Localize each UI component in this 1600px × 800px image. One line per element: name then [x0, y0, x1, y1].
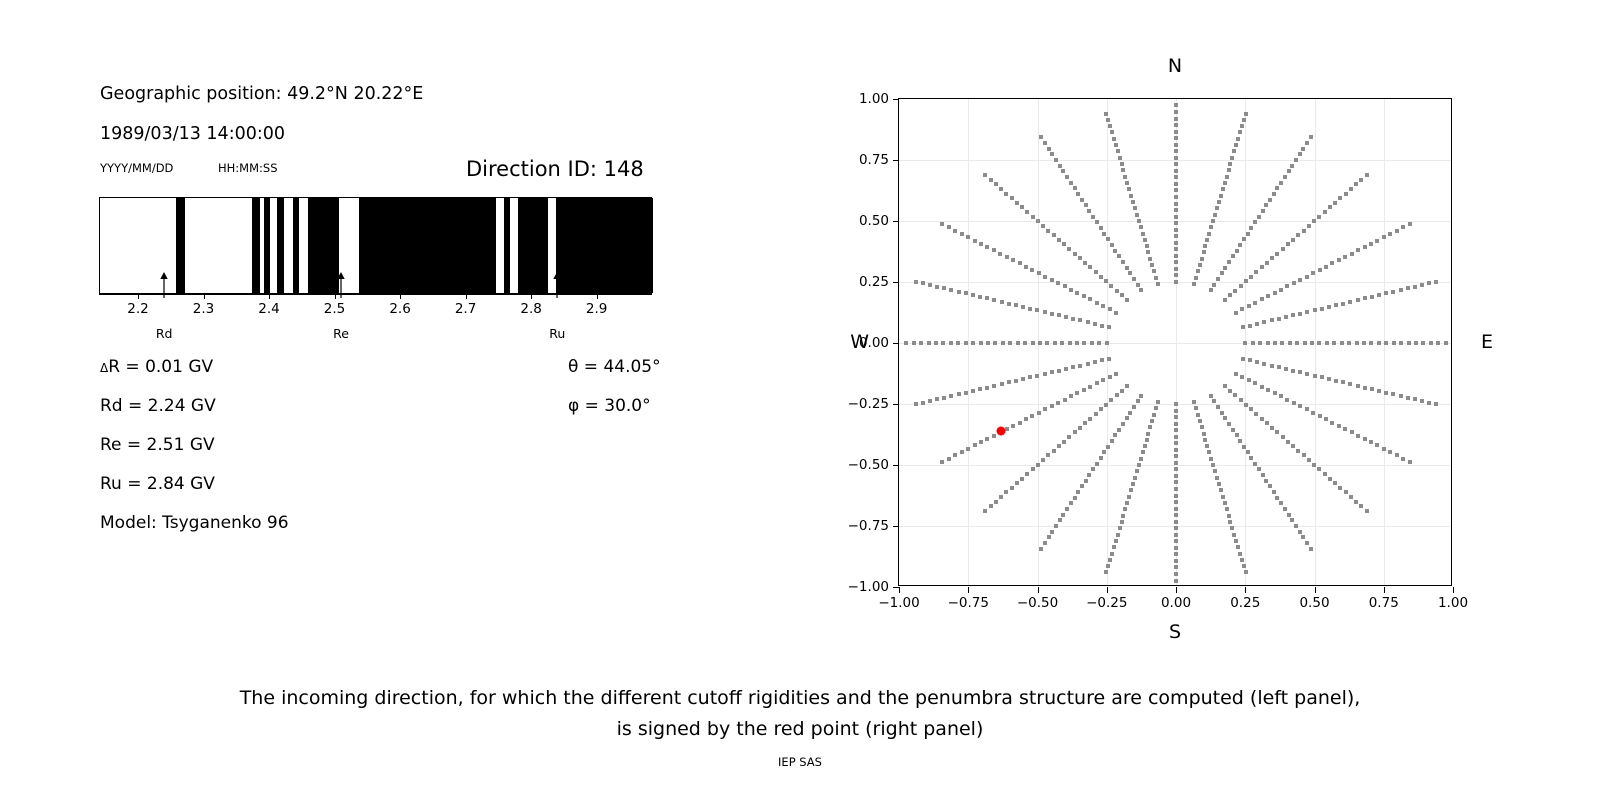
direction-point — [1270, 318, 1274, 322]
direction-point — [1174, 539, 1178, 543]
direction-point — [973, 239, 977, 243]
direction-point — [1213, 469, 1217, 473]
direction-point — [1037, 271, 1041, 275]
direction-point — [1341, 380, 1345, 384]
direction-point — [1249, 456, 1253, 460]
direction-point — [966, 235, 970, 239]
direction-point — [1108, 307, 1112, 311]
scatter-plot-frame: N S W E −1.00−0.75−0.50−0.250.000.250.50… — [898, 98, 1452, 586]
direction-point — [1154, 276, 1158, 280]
direction-point — [1174, 188, 1178, 192]
gridline-horizontal — [899, 160, 1451, 161]
direction-point — [1050, 370, 1054, 374]
penumbra-forbidden-band — [176, 198, 186, 293]
direction-point — [1064, 367, 1068, 371]
direction-point — [1127, 187, 1131, 191]
direction-point — [1227, 422, 1231, 426]
direction-point — [983, 509, 987, 513]
direction-point — [1135, 469, 1139, 473]
direction-point — [1279, 181, 1283, 185]
direction-point — [1091, 467, 1095, 471]
direction-point — [1233, 393, 1237, 397]
direction-point — [1174, 110, 1178, 114]
direction-point — [1045, 341, 1049, 345]
direction-point — [942, 396, 946, 400]
direction-point — [1061, 169, 1065, 173]
direction-point — [1104, 403, 1108, 407]
direction-point — [1227, 514, 1231, 518]
direction-map-panel: N S W E −1.00−0.75−0.50−0.250.000.250.50… — [760, 0, 1600, 660]
direction-point — [1254, 412, 1258, 416]
direction-point — [1110, 243, 1114, 247]
direction-point — [1065, 507, 1069, 511]
direction-point — [1078, 426, 1082, 430]
direction-point — [966, 447, 970, 451]
x-axis-tick — [1453, 587, 1454, 593]
direction-point — [1050, 404, 1054, 408]
direction-point — [1174, 136, 1178, 140]
direction-point — [1298, 152, 1302, 156]
direction-point — [1109, 398, 1113, 402]
caption-line-1: The incoming direction, for which the di… — [0, 683, 1600, 714]
direction-point — [949, 341, 953, 345]
param-delta-R: ΔR = 0.01 GV — [100, 357, 213, 377]
direction-point — [1174, 500, 1178, 504]
direction-point — [1203, 438, 1207, 442]
direction-point — [1093, 322, 1097, 326]
gridline-vertical — [1315, 99, 1316, 585]
direction-point — [1369, 242, 1373, 246]
direction-point — [1099, 407, 1103, 411]
direction-point — [1020, 205, 1024, 209]
direction-point — [1031, 215, 1035, 219]
direction-point — [1270, 256, 1274, 260]
direction-point — [1082, 388, 1086, 392]
direction-point — [1369, 440, 1373, 444]
direction-point — [1062, 440, 1066, 444]
x-axis-tick — [899, 587, 900, 593]
direction-point — [964, 341, 968, 345]
direction-point — [1043, 275, 1047, 279]
direction-point — [1318, 414, 1322, 418]
cutoff-marker-label-rd: Rd — [156, 326, 173, 341]
direction-point — [998, 252, 1002, 256]
direction-point — [1266, 294, 1270, 298]
x-axis-tick-label: 0.50 — [1299, 595, 1329, 611]
rigidity-tick — [204, 294, 205, 299]
gridline-vertical — [968, 99, 969, 585]
direction-point — [1317, 341, 1321, 345]
direction-point — [1427, 281, 1431, 285]
direction-point — [1174, 149, 1178, 153]
direction-point — [1307, 458, 1311, 462]
direction-point — [1203, 244, 1207, 248]
direction-point — [1131, 482, 1135, 486]
direction-point — [1067, 435, 1071, 439]
direction-point — [1294, 158, 1298, 162]
direction-point — [1337, 424, 1341, 428]
direction-point — [1001, 341, 1005, 345]
direction-point — [1356, 384, 1360, 388]
direction-point — [1174, 215, 1178, 219]
direction-point — [1057, 313, 1061, 317]
direction-point — [1217, 482, 1221, 486]
direction-point — [921, 401, 925, 405]
direction-point — [1223, 501, 1227, 505]
direction-point — [1413, 397, 1417, 401]
direction-point — [1100, 358, 1104, 362]
direction-point — [1219, 194, 1223, 198]
direction-point — [1093, 360, 1097, 364]
x-axis-tick-label: 0.25 — [1230, 595, 1260, 611]
direction-point — [1205, 444, 1209, 448]
direction-point — [1388, 232, 1392, 236]
direction-point — [1141, 450, 1145, 454]
direction-point — [1050, 530, 1054, 534]
direction-point — [1261, 209, 1265, 213]
direction-point — [1307, 224, 1311, 228]
direction-point — [1174, 234, 1178, 238]
direction-point — [960, 450, 964, 454]
direction-point — [1242, 118, 1246, 122]
direction-point — [949, 394, 953, 398]
footer-credit: IEP SAS — [0, 755, 1600, 769]
direction-point — [1174, 428, 1178, 432]
figure-caption: The incoming direction, for which the di… — [0, 683, 1600, 745]
direction-point — [1391, 392, 1395, 396]
direction-point — [1337, 258, 1341, 262]
direction-point — [1399, 341, 1403, 345]
direction-point — [1150, 419, 1154, 423]
y-axis-tick — [893, 526, 899, 527]
direction-point — [1125, 416, 1129, 420]
direction-point — [1216, 405, 1220, 409]
direction-point — [1069, 394, 1073, 398]
direction-point — [1069, 288, 1073, 292]
direction-point — [1016, 341, 1020, 345]
direction-point — [1355, 341, 1359, 345]
rigidity-axis: 2.22.32.42.52.62.72.82.9RdReRu — [99, 294, 652, 295]
y-axis-tick — [893, 99, 899, 100]
direction-point — [1136, 283, 1140, 287]
direction-point — [1011, 258, 1015, 262]
direction-point — [1073, 186, 1077, 190]
direction-point — [1248, 324, 1252, 328]
direction-point — [1225, 175, 1229, 179]
direction-point — [1088, 417, 1092, 421]
direction-point — [1174, 208, 1178, 212]
rigidity-tick — [269, 294, 270, 299]
direction-point — [1174, 162, 1178, 166]
direction-point — [1143, 444, 1147, 448]
direction-point — [914, 402, 918, 406]
direction-point — [1406, 396, 1410, 400]
direction-point — [1414, 341, 1418, 345]
direction-point — [935, 397, 939, 401]
direction-point — [1338, 196, 1342, 200]
caption-line-2: is signed by the red point (right panel) — [0, 714, 1600, 745]
gridline-horizontal — [899, 465, 1451, 466]
x-axis-tick-label: −0.75 — [948, 595, 989, 611]
direction-point — [1253, 381, 1257, 385]
direction-point — [1043, 310, 1047, 314]
direction-point — [1073, 496, 1077, 500]
direction-point — [1215, 206, 1219, 210]
direction-point — [940, 222, 944, 226]
direction-point — [1110, 130, 1114, 134]
penumbra-forbidden-band — [293, 198, 299, 293]
direction-point — [1125, 384, 1129, 388]
direction-point — [1298, 530, 1302, 534]
direction-point — [1036, 219, 1040, 223]
direction-point — [1200, 425, 1204, 429]
direction-point — [1099, 226, 1103, 230]
y-axis-tick-label: 1.00 — [859, 91, 889, 107]
direction-point — [985, 437, 989, 441]
direction-point — [1174, 507, 1178, 511]
y-axis-tick-label: 0.25 — [859, 274, 889, 290]
direction-point — [1209, 225, 1213, 229]
direction-point — [1365, 509, 1369, 513]
direction-point — [1291, 369, 1295, 373]
direction-point — [1174, 552, 1178, 556]
direction-point — [1014, 303, 1018, 307]
direction-point — [1328, 205, 1332, 209]
direction-point — [928, 399, 932, 403]
direction-point — [978, 387, 982, 391]
direction-point — [1015, 201, 1019, 205]
direction-point — [1330, 421, 1334, 425]
direction-point — [914, 280, 918, 284]
direction-point — [957, 290, 961, 294]
direction-point — [960, 232, 964, 236]
selected-direction-point[interactable] — [997, 426, 1006, 435]
x-axis-tick-label: −1.00 — [878, 595, 919, 611]
direction-point — [1038, 341, 1042, 345]
direction-point — [1211, 219, 1215, 223]
direction-point — [1174, 267, 1178, 271]
direction-point — [978, 295, 982, 299]
penumbra-panel: Geographic position: 49.2°N 20.22°E 1989… — [0, 0, 760, 660]
direction-point — [1244, 570, 1248, 574]
direction-point — [1112, 545, 1116, 549]
x-axis-tick-label: −0.25 — [1086, 595, 1127, 611]
direction-point — [1234, 372, 1238, 376]
direction-point — [1327, 377, 1331, 381]
y-axis-tick-label: −0.75 — [848, 518, 889, 534]
direction-point — [1392, 341, 1396, 345]
direction-point — [1246, 232, 1250, 236]
rigidity-tick — [138, 294, 139, 299]
direction-point — [1350, 252, 1354, 256]
direction-point — [1291, 313, 1295, 317]
direction-point — [1050, 312, 1054, 316]
direction-point — [1174, 526, 1178, 530]
direction-point — [1198, 419, 1202, 423]
direction-point — [1312, 219, 1316, 223]
direction-point — [1228, 162, 1232, 166]
direction-point — [1247, 304, 1251, 308]
direction-point — [1152, 269, 1156, 273]
direction-point — [1005, 255, 1009, 259]
direction-point — [1114, 311, 1118, 315]
direction-point — [1200, 257, 1204, 261]
cutoff-marker-label-re: Re — [333, 326, 349, 341]
direction-point — [1285, 398, 1289, 402]
direction-point — [1343, 427, 1347, 431]
x-axis-tick — [1315, 587, 1316, 593]
direction-point — [1262, 320, 1266, 324]
direction-point — [1225, 507, 1229, 511]
direction-point — [1139, 225, 1143, 229]
direction-point — [1323, 472, 1327, 476]
direction-point — [1370, 295, 1374, 299]
direction-point — [1235, 249, 1239, 253]
direction-point — [1174, 467, 1178, 471]
direction-point — [1420, 399, 1424, 403]
direction-point — [1232, 149, 1236, 153]
direction-point — [1107, 357, 1111, 361]
direction-point — [1429, 341, 1433, 345]
direction-point — [1174, 565, 1178, 569]
y-axis-tick — [893, 221, 899, 222]
direction-point — [1174, 546, 1178, 550]
direction-point — [1083, 421, 1087, 425]
direction-point — [1039, 135, 1043, 139]
direction-point — [1116, 533, 1120, 537]
direction-point — [1057, 238, 1061, 242]
direction-point — [983, 173, 987, 177]
direction-point — [1421, 341, 1425, 345]
direction-point — [1384, 341, 1388, 345]
direction-point — [1120, 293, 1124, 297]
direction-point — [1115, 393, 1119, 397]
direction-point — [1375, 239, 1379, 243]
direction-point — [1063, 284, 1067, 288]
direction-point — [1136, 399, 1140, 403]
cutoff-marker-label-ru: Ru — [549, 326, 565, 341]
direction-point — [1284, 367, 1288, 371]
direction-point — [1348, 300, 1352, 304]
direction-point — [953, 453, 957, 457]
direction-point — [1363, 296, 1367, 300]
direction-point — [1102, 232, 1106, 236]
direction-point — [1075, 291, 1079, 295]
direction-point — [942, 286, 946, 290]
direction-point — [1062, 242, 1066, 246]
direction-point — [1095, 381, 1099, 385]
direction-point — [1298, 278, 1302, 282]
direction-point — [1242, 564, 1246, 568]
direction-point — [1094, 412, 1098, 416]
direction-point — [1244, 403, 1248, 407]
rigidity-tick — [531, 294, 532, 299]
direction-point — [1249, 407, 1253, 411]
direction-point — [1257, 215, 1261, 219]
direction-point — [1213, 213, 1217, 217]
direction-point — [1082, 294, 1086, 298]
direction-point — [1333, 201, 1337, 205]
x-axis-tick — [1107, 587, 1108, 593]
direction-point — [1069, 181, 1073, 185]
direction-point — [1303, 341, 1307, 345]
direction-point — [1023, 341, 1027, 345]
direction-point — [1340, 341, 1344, 345]
direction-point — [1330, 261, 1334, 265]
direction-point — [1323, 210, 1327, 214]
direction-point — [1105, 341, 1109, 345]
direction-point — [1332, 341, 1336, 345]
direction-point — [964, 291, 968, 295]
direction-point — [1174, 182, 1178, 186]
direction-point — [1010, 196, 1014, 200]
direction-point — [1363, 386, 1367, 390]
direction-point — [1174, 415, 1178, 419]
direction-point — [1253, 220, 1257, 224]
direction-point — [1384, 391, 1388, 395]
direction-point — [1291, 444, 1295, 448]
direction-point — [1354, 500, 1358, 504]
direction-point — [964, 391, 968, 395]
direction-point — [1220, 271, 1224, 275]
direction-point — [1125, 181, 1129, 185]
direction-point — [1298, 370, 1302, 374]
direction-point — [1240, 558, 1244, 562]
direction-point — [1382, 447, 1386, 451]
direction-point — [1279, 394, 1283, 398]
delta-symbol: Δ — [100, 361, 108, 375]
direction-point — [1228, 293, 1232, 297]
direction-point — [1275, 496, 1279, 500]
direction-point — [1058, 164, 1062, 168]
direction-point — [1363, 437, 1367, 441]
direction-point — [1198, 263, 1202, 267]
direction-point — [1118, 526, 1122, 530]
direction-point — [1275, 430, 1279, 434]
direction-point — [1174, 143, 1178, 147]
direction-point — [1065, 175, 1069, 179]
direction-point — [1146, 432, 1150, 436]
direction-point — [1302, 453, 1306, 457]
direction-point — [1242, 237, 1246, 241]
compass-label-north: N — [1168, 55, 1182, 77]
direction-point — [1069, 501, 1073, 505]
direction-point — [921, 281, 925, 285]
direction-point — [989, 504, 993, 508]
direction-point — [1395, 229, 1399, 233]
direction-point — [1305, 141, 1309, 145]
direction-point — [1028, 375, 1032, 379]
direction-point — [1076, 490, 1080, 494]
direction-point — [1058, 518, 1062, 522]
direction-point — [1133, 206, 1137, 210]
direction-point — [1279, 501, 1283, 505]
direction-point — [1087, 473, 1091, 477]
penumbra-forbidden-band — [252, 198, 260, 293]
direction-point — [1104, 279, 1108, 283]
cutoff-marker-arrow-re — [336, 272, 346, 298]
direction-point — [1290, 518, 1294, 522]
direction-point — [1174, 260, 1178, 264]
direction-point — [1037, 411, 1041, 415]
direction-point — [1407, 341, 1411, 345]
direction-point — [1100, 324, 1104, 328]
direction-point — [1238, 439, 1242, 443]
direction-point — [1444, 341, 1448, 345]
direction-point — [1036, 463, 1040, 467]
direction-point — [941, 341, 945, 345]
direction-point — [1320, 375, 1324, 379]
